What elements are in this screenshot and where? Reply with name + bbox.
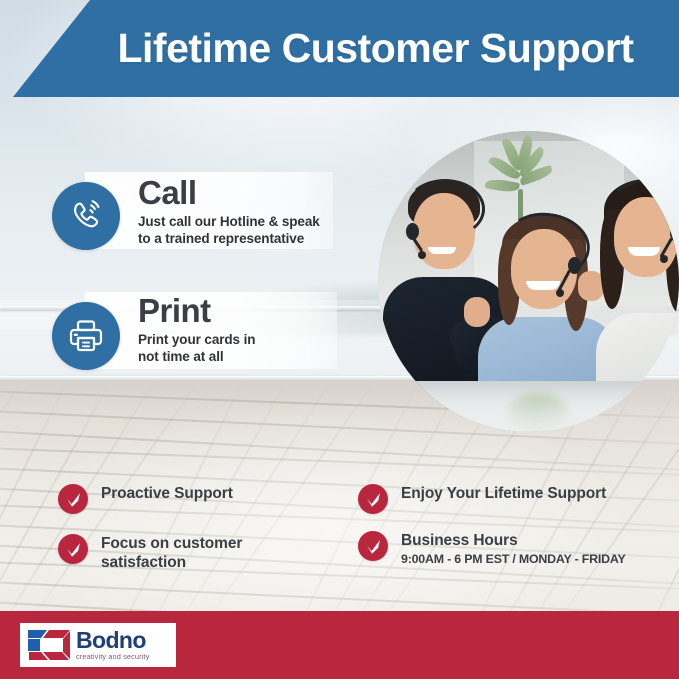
checklist-title: Focus on customer <box>101 535 242 554</box>
check-badge-icon <box>358 531 388 561</box>
check-badge-icon <box>58 534 88 564</box>
check-badge-icon <box>58 484 88 514</box>
bodno-frame-logo-icon <box>26 628 72 662</box>
checklist-item-enjoy-lifetime-support: Enjoy Your Lifetime Support <box>358 484 606 514</box>
feature-print-desc: Print your cards in not time at all <box>138 331 255 366</box>
checklist-title: Proactive Support <box>101 485 233 504</box>
checklist-item-enjoy-lifetime-support-text: Enjoy Your Lifetime Support <box>401 484 606 504</box>
bodno-logo-words: Bodno creativity and security <box>76 629 149 661</box>
feature-print-text: Print Print your cards in not time at al… <box>138 294 255 365</box>
feature-call-desc-line1: Just call our Hotline & speak <box>138 214 320 229</box>
checklist-title: Enjoy Your Lifetime Support <box>401 485 606 504</box>
footer-bar: Bodno creativity and security <box>0 611 679 679</box>
checklist-title: Business Hours <box>401 532 626 551</box>
checklist-item-business-hours: Business Hours 9:00AM - 6 PM EST / MONDA… <box>358 531 626 567</box>
checklist-item-focus-on-customer-text: Focus on customer satisfaction <box>101 534 242 573</box>
page-title: Lifetime Customer Support <box>0 28 679 69</box>
bodno-logo-name: Bodno <box>76 629 149 651</box>
team-photo-circle <box>378 131 679 432</box>
checklist-item-focus-on-customer: Focus on customer satisfaction <box>58 534 242 573</box>
check-badge-icon <box>358 484 388 514</box>
feature-print-desc-line2: not time at all <box>138 349 224 364</box>
feature-print-title: Print <box>138 294 255 329</box>
printer-icon <box>52 302 120 370</box>
checklist-title-line2: satisfaction <box>101 554 242 573</box>
feature-call-desc-line2: to a trained representative <box>138 231 304 246</box>
poster-canvas: Lifetime Customer Support Call Just call… <box>0 0 679 679</box>
feature-call-text: Call Just call our Hotline & speak to a … <box>138 176 320 247</box>
checklist-item-proactive-support-text: Proactive Support <box>101 484 233 504</box>
header-banner: Lifetime Customer Support <box>0 0 679 97</box>
feature-call-title: Call <box>138 176 320 211</box>
bodno-logo: Bodno creativity and security <box>20 623 176 667</box>
checklist-item-business-hours-text: Business Hours 9:00AM - 6 PM EST / MONDA… <box>401 531 626 567</box>
feature-call-desc: Just call our Hotline & speak to a train… <box>138 213 320 248</box>
bodno-logo-tagline: creativity and security <box>76 652 149 661</box>
checklist-item-proactive-support: Proactive Support <box>58 484 233 514</box>
checklist-subtitle: 9:00AM - 6 PM EST / MONDAY - FRIDAY <box>401 552 626 567</box>
photo-bottom-blur <box>378 386 679 432</box>
feature-print-desc-line1: Print your cards in <box>138 332 255 347</box>
phone-call-icon <box>52 182 120 250</box>
